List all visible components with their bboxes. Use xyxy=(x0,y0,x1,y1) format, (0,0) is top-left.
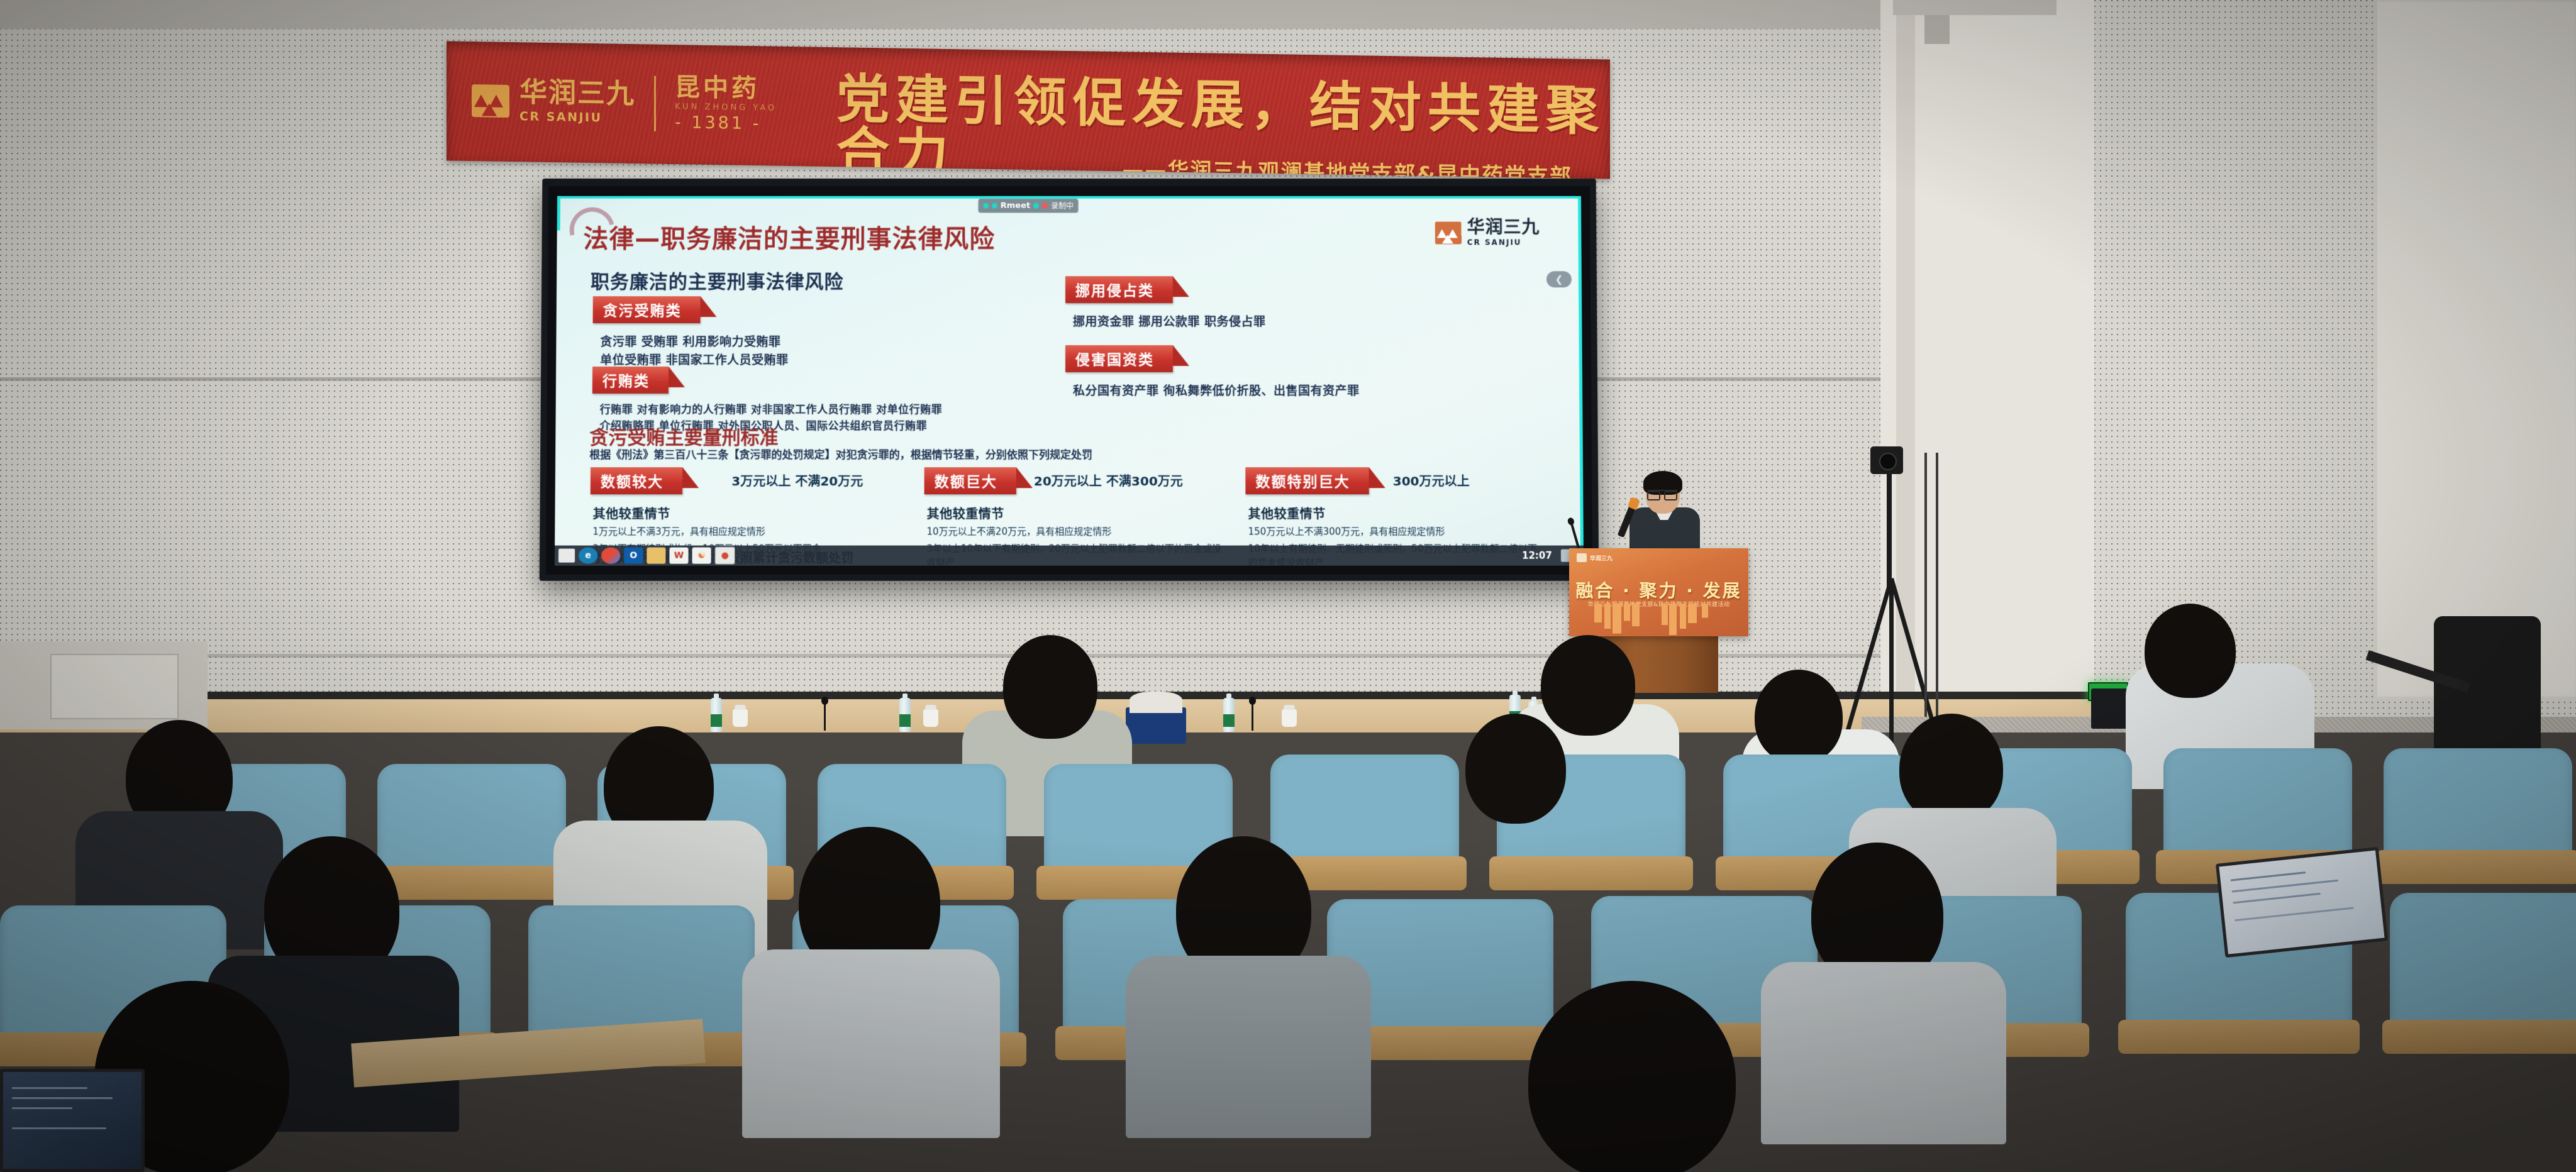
auditorium-chair xyxy=(2390,893,2576,1050)
laptop-text-line xyxy=(12,1097,113,1099)
category-block-2: 挪用侵占类 挪用资金罪 挪用公款罪 职务侵占罪 xyxy=(1065,276,1266,331)
chrome-icon[interactable] xyxy=(601,548,620,564)
banner-logo-group: 华润三九 CR SANJIU 昆中药 KUN ZHONG YAO - 1381 … xyxy=(472,72,777,134)
laptop-text-line xyxy=(2233,893,2321,904)
outlook-icon[interactable]: O xyxy=(624,548,643,564)
attendee-head xyxy=(1899,714,2003,824)
slide-logo-cn: 华润三九 xyxy=(1467,219,1540,236)
attendee-head xyxy=(2145,604,2236,698)
edge-icon[interactable]: e xyxy=(579,548,597,564)
mesh-office-chair xyxy=(2434,616,2541,761)
chair-arm xyxy=(1489,856,1693,890)
photo-scene: 华润三九 CR SANJIU 昆中药 KUN ZHONG YAO - 1381 … xyxy=(0,0,2576,1172)
standard-tag: 数额特别巨大 xyxy=(1245,467,1368,494)
standard-detail: 150万元以上不满300万元，具有相应规定情形 xyxy=(1248,525,1545,539)
attendee-laptop[interactable] xyxy=(2216,847,2388,958)
standard-detail: 1万元以上不满3万元，具有相应规定情形 xyxy=(592,525,908,539)
laptop-text-line xyxy=(12,1107,72,1109)
projected-desktop[interactable]: Rmeet 录制中 法律—职务廉洁的主要刑事法律风险 华润三九 CR SANJI… xyxy=(555,196,1584,566)
water-bottle xyxy=(1223,698,1235,732)
slide-logo-en: CR SANJIU xyxy=(1467,238,1540,246)
standard-tag: 数额较大 xyxy=(591,467,682,494)
chevron-left-icon[interactable]: ❮ xyxy=(1546,271,1572,287)
slide-section2-note: 根据《刑法》第三百八十三条【贪污罪的处罚规定】对犯贪污罪的，根据情节轻重，分别依… xyxy=(589,446,1092,462)
category-line: 挪用资金罪 挪用公款罪 职务侵占罪 xyxy=(1073,313,1266,331)
event-banner: 华润三九 CR SANJIU 昆中药 KUN ZHONG YAO - 1381 … xyxy=(447,41,1610,179)
attendee-body xyxy=(1761,962,2006,1144)
tripod-column xyxy=(1887,474,1892,594)
wps-writer-icon[interactable]: W xyxy=(669,548,688,564)
standard-detail: 10万元以上不满20万元，具有相应规定情形 xyxy=(926,525,1229,539)
recorder-icon[interactable]: ● xyxy=(715,547,735,565)
standard-block-2: 数额特别巨大 xyxy=(1245,467,1368,494)
chair-arm xyxy=(2376,850,2576,884)
category-line: 私分国有资产罪 徇私舞弊低价折股、出售国有资产罪 xyxy=(1073,382,1360,401)
camera-tripod xyxy=(1843,446,1937,761)
laptop-screen xyxy=(0,1069,145,1172)
record-dot-icon xyxy=(1042,203,1048,209)
wps-presentation-icon[interactable]: ☯ xyxy=(692,548,711,564)
mic-status-icon xyxy=(983,203,989,209)
category-block-3: 侵害国资类 私分国有资产罪 徇私舞弊低价折股、出售国有资产罪 xyxy=(1065,345,1360,400)
attendee-laptop[interactable] xyxy=(0,1069,145,1172)
desk-microphone-icon xyxy=(824,703,826,731)
tissue xyxy=(1130,692,1182,713)
auditorium-chair xyxy=(377,764,566,896)
podium-headline: 融合 · 聚力 · 发展 xyxy=(1569,577,1748,602)
cr-sanjiu-mountain-icon xyxy=(472,84,509,118)
banner-partner-year: - 1381 - xyxy=(675,113,777,134)
video-camera-icon xyxy=(1870,446,1903,474)
share-status-icon xyxy=(1033,203,1039,209)
standard-subheading: 其他较重情节 xyxy=(1248,504,1544,522)
meeting-app-name: Rmeet xyxy=(1001,201,1030,211)
banner-logo-en: CR SANJIU xyxy=(519,109,635,125)
attendee-body xyxy=(742,949,1000,1138)
tripod-leg xyxy=(1839,578,1894,755)
slide-canvas: 法律—职务廉洁的主要刑事法律风险 华润三九 CR SANJIU 职务廉洁的主要刑… xyxy=(555,196,1584,566)
banner-partner-en: KUN ZHONG YAO xyxy=(675,102,777,113)
chair-arm xyxy=(2118,1020,2360,1054)
laptop-screen xyxy=(2216,847,2388,958)
start-icon[interactable] xyxy=(558,549,575,563)
podium-logo-group: 华润三九 xyxy=(1577,553,1613,562)
banner-partner-cn: 昆中药 xyxy=(675,75,777,102)
category-block-0: 贪污受贿类 贪污罪 受贿罪 利用影响力受贿罪 单位受贿罪 非国家工作人员受贿罪 xyxy=(592,296,789,369)
podium-logo-cn: 华润三九 xyxy=(1590,554,1613,562)
taskbar-clock[interactable]: 12:07 xyxy=(1522,550,1552,561)
folder-icon[interactable] xyxy=(647,548,665,564)
standard-block-1: 数额巨大 xyxy=(924,467,1016,494)
tea-cup xyxy=(1282,709,1297,727)
category-tag: 贪污受贿类 xyxy=(593,296,701,323)
laptop-text-line xyxy=(12,1127,106,1129)
presenter-person xyxy=(1626,475,1701,556)
chair-arm xyxy=(370,866,574,900)
laptop-text-line xyxy=(12,1087,87,1089)
skyline-graphic-icon xyxy=(1594,604,1723,635)
attendee-body xyxy=(1126,956,1371,1138)
cr-sanjiu-mountain-icon xyxy=(1577,553,1587,562)
tea-cup xyxy=(923,709,938,727)
standard-subheading: 其他较重情节 xyxy=(927,504,1230,522)
category-line: 贪污罪 受贿罪 利用影响力受贿罪 xyxy=(600,333,789,351)
camera-status-icon xyxy=(992,203,997,209)
standard-amount: 300万元以上 xyxy=(1393,471,1470,489)
category-tag: 侵害国资类 xyxy=(1065,345,1173,372)
ceiling-beam xyxy=(1893,0,2057,15)
right-panel xyxy=(2094,0,2377,710)
slide-brand-logo: 华润三九 CR SANJIU xyxy=(1435,219,1540,247)
standard-tag: 数额巨大 xyxy=(924,467,1016,494)
recording-indicator[interactable]: Rmeet 录制中 xyxy=(978,199,1079,213)
tripod-leg xyxy=(1889,578,1894,761)
slide-title: 法律—职务廉洁的主要刑事法律风险 xyxy=(583,219,995,255)
podium-banner-board: 华润三九 融合 · 聚力 · 发展 华润三九观澜基地党支部&昆中药党支部结对共建… xyxy=(1569,548,1748,636)
standard-amount: 3万元以上 不满20万元 xyxy=(731,471,863,489)
right-door[interactable] xyxy=(2371,0,2576,698)
category-line: 行贿罪 对有影响力的人行贿罪 对非国家工作人员行贿罪 对单位行贿罪 xyxy=(600,402,943,419)
screen-bezel: Rmeet 录制中 法律—职务廉洁的主要刑事法律风险 华润三九 CR SANJI… xyxy=(546,186,1593,575)
attendee-head xyxy=(1465,714,1566,824)
auditorium-chair xyxy=(2384,748,2572,880)
wall-vent xyxy=(50,654,179,719)
banner-logo-cn: 华润三九 xyxy=(519,79,635,108)
tripod-cable xyxy=(1924,453,1927,717)
projection-screen-frame: Rmeet 录制中 法律—职务廉洁的主要刑事法律风险 华润三九 CR SANJI… xyxy=(540,179,1599,581)
tripod-cable xyxy=(1936,453,1938,717)
recording-state-label: 录制中 xyxy=(1051,201,1074,211)
attendee-head xyxy=(1003,635,1097,739)
laptop-text-line xyxy=(2235,907,2353,921)
category-tag: 挪用侵占类 xyxy=(1065,276,1173,303)
laptop-text-line xyxy=(2231,880,2338,893)
standard-block-0: 数额较大 xyxy=(591,467,682,494)
cr-sanjiu-mountain-icon xyxy=(1435,221,1462,244)
desk-microphone-icon xyxy=(1252,703,1253,731)
windows-taskbar[interactable]: e O W ☯ ● 12:07 xyxy=(555,546,1584,566)
attendee-head xyxy=(1541,635,1635,736)
tea-cup xyxy=(733,709,748,727)
attendee-head xyxy=(1755,670,1843,764)
glasses-icon xyxy=(1647,490,1677,498)
standard-amount: 20万元以上 不满300万元 xyxy=(1034,471,1183,489)
standard-subheading: 其他较重情节 xyxy=(592,504,908,522)
banner-logo-divider xyxy=(654,75,656,131)
laptop-text-line xyxy=(2231,871,2306,882)
water-bottle xyxy=(899,698,911,732)
category-tag: 行贿类 xyxy=(592,367,669,394)
attendee-head-foreground xyxy=(1528,981,1736,1172)
water-bottle xyxy=(711,698,722,732)
slide-section1-heading: 职务廉洁的主要刑事法律风险 xyxy=(591,266,844,294)
chair-arm xyxy=(2382,1020,2576,1054)
